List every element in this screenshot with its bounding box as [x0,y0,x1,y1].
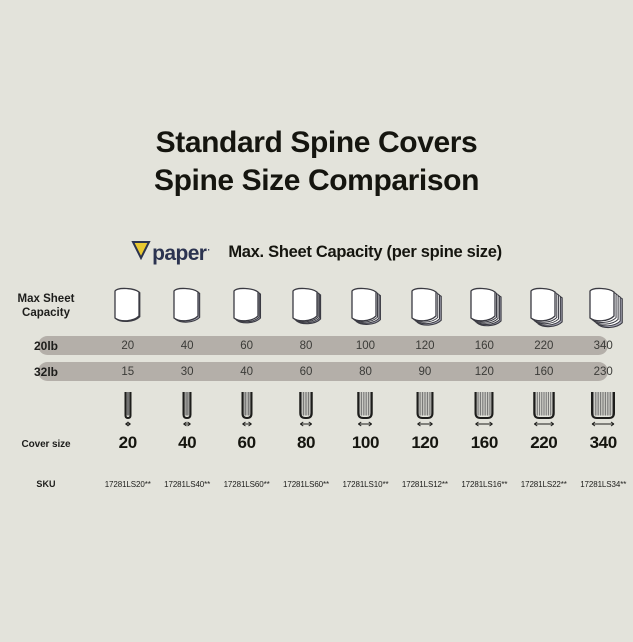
paper-stack-icon [342,281,388,331]
sku-value-1-text: 17281LS40** [164,480,210,489]
max-sheet-label-line1: Max Sheet [0,292,92,306]
weight-label-32lb: 32lb [0,365,98,379]
paper-stack-cell-4 [336,281,395,331]
sku-value-8-text: 17281LS34** [580,480,626,489]
paper-stack-icon [580,281,626,331]
paper-stack-icon [105,281,151,331]
legend-header: paper · Max. Sheet Capacity (per spine s… [0,240,633,264]
spine-icon-cell-4 [336,389,395,429]
paper-stack-cell-7 [514,281,573,331]
cover-size-value-6: 160 [455,433,514,453]
cover-size-value-5-text: 120 [411,433,438,452]
capacity-value-20lb-6: 160 [455,340,514,352]
cover-size-value-6-text: 160 [471,433,498,452]
spine-icon-cell-2 [217,389,276,429]
capacity-value-20lb-8: 340 [574,340,633,352]
max-sheet-capacity-label: Max Sheet Capacity [0,292,98,320]
max-sheet-capacity-row: Max Sheet Capacity [0,278,633,334]
sku-value-3-text: 17281LS60** [283,480,329,489]
capacity-value-32lb-2: 40 [217,366,276,378]
capacity-value-32lb-4: 80 [336,366,395,378]
max-sheet-label-line2: Capacity [0,306,92,320]
title-line-2: Spine Size Comparison [0,162,633,200]
capacity-value-32lb-7: 160 [514,366,573,378]
paper-stack-cell-3 [276,281,335,331]
sku-value-7-text: 17281LS22** [521,480,567,489]
spine-binder-icon [522,389,566,429]
sku-value-2: 17281LS60** [217,474,276,492]
spine-icon-cell-3 [276,389,335,429]
paper-stack-cell-2 [217,281,276,331]
paper-stack-cell-6 [455,281,514,331]
capacity-value-32lb-3: 60 [276,366,335,378]
cover-size-row: Cover size 20406080100120160220340 [0,432,633,454]
sku-value-4: 17281LS10** [336,474,395,492]
paper-stack-cell-5 [395,281,454,331]
capacity-row-20lb: 20lb 20406080100120160220340 [0,336,633,355]
cover-size-value-5: 120 [395,433,454,453]
spine-binder-icon [403,389,447,429]
legend-caption: Max. Sheet Capacity (per spine size) [228,243,501,262]
spine-binder-icon [343,389,387,429]
sku-value-6: 17281LS16** [455,474,514,492]
page-title: Standard Spine Covers Spine Size Compari… [0,124,633,200]
cover-size-value-2: 60 [217,433,276,453]
cover-size-value-4: 100 [336,433,395,453]
paper-stack-icon [164,281,210,331]
capacity-value-20lb-0: 20 [98,340,157,352]
vpaper-logo: paper · [131,240,210,264]
sku-value-2-text: 17281LS60** [224,480,270,489]
sku-value-5: 17281LS12** [395,474,454,492]
paper-stack-icon [461,281,507,331]
spine-binder-icon [165,389,209,429]
spine-icon-cell-6 [455,389,514,429]
cover-size-label: Cover size [21,439,70,450]
sku-value-5-text: 17281LS12** [402,480,448,489]
cover-size-value-1-text: 40 [178,433,196,452]
capacity-value-32lb-1: 30 [157,366,216,378]
sku-label-cell: SKU [0,474,98,492]
cover-size-value-1: 40 [157,433,216,453]
capacity-values-20lb: 20406080100120160220340 [98,340,633,352]
capacity-value-20lb-5: 120 [395,340,454,352]
cover-size-value-7-text: 220 [530,433,557,452]
spine-icon-cell-5 [395,389,454,429]
capacity-value-32lb-8: 230 [574,366,633,378]
spine-icon-cell-0 [98,389,157,429]
sku-value-1: 17281LS40** [157,474,216,492]
paper-stack-cell-1 [157,281,216,331]
spine-binder-icon [284,389,328,429]
sku-value-0: 17281LS20** [98,474,157,492]
cover-size-value-8: 340 [574,433,633,453]
sku-values: 17281LS20**17281LS40**17281LS60**17281LS… [98,474,633,492]
cover-size-value-2-text: 60 [238,433,256,452]
spine-icon-row [0,388,633,430]
cover-size-value-3-text: 80 [297,433,315,452]
sku-value-6-text: 17281LS16** [461,480,507,489]
paper-stack-cell-8 [574,281,633,331]
capacity-value-20lb-3: 80 [276,340,335,352]
logo-wordmark: paper [152,243,206,264]
paper-stack-cell-0 [98,281,157,331]
cover-size-value-3: 80 [276,433,335,453]
sku-value-0-text: 17281LS20** [105,480,151,489]
paper-stack-icon [521,281,567,331]
sku-value-8: 17281LS34** [574,474,633,492]
spine-icon-cells [98,389,633,429]
sku-value-3: 17281LS60** [276,474,335,492]
sku-label: SKU [36,479,55,489]
spine-icon-cell-7 [514,389,573,429]
title-line-1: Standard Spine Covers [0,124,633,162]
weight-label-20lb: 20lb [0,339,98,353]
spine-binder-icon [581,389,625,429]
cover-size-value-4-text: 100 [352,433,379,452]
cover-size-value-7: 220 [514,433,573,453]
sku-value-4-text: 17281LS10** [342,480,388,489]
paper-stack-icon [224,281,270,331]
capacity-value-32lb-5: 90 [395,366,454,378]
spine-binder-icon [106,389,150,429]
cover-size-values: 20406080100120160220340 [98,433,633,453]
cover-size-label-cell: Cover size [0,434,98,452]
capacity-row-32lb: 32lb 153040608090120160230 [0,362,633,381]
capacity-value-32lb-6: 120 [455,366,514,378]
spine-binder-icon [462,389,506,429]
cover-size-value-8-text: 340 [590,433,617,452]
sku-value-7: 17281LS22** [514,474,573,492]
capacity-value-20lb-4: 100 [336,340,395,352]
capacity-value-32lb-0: 15 [98,366,157,378]
capacity-value-20lb-2: 60 [217,340,276,352]
logo-trademark: · [207,246,210,255]
capacity-value-20lb-7: 220 [514,340,573,352]
logo-v-icon [131,240,151,260]
paper-stack-icon [283,281,329,331]
paper-stack-icon [402,281,448,331]
capacity-values-32lb: 153040608090120160230 [98,366,633,378]
paper-stack-icon-cells [98,281,633,331]
capacity-value-20lb-1: 40 [157,340,216,352]
spine-icon-cell-8 [574,389,633,429]
cover-size-value-0-text: 20 [119,433,137,452]
sku-row: SKU 17281LS20**17281LS40**17281LS60**172… [0,474,633,492]
spine-binder-icon [225,389,269,429]
cover-size-value-0: 20 [98,433,157,453]
spine-icon-cell-1 [157,389,216,429]
